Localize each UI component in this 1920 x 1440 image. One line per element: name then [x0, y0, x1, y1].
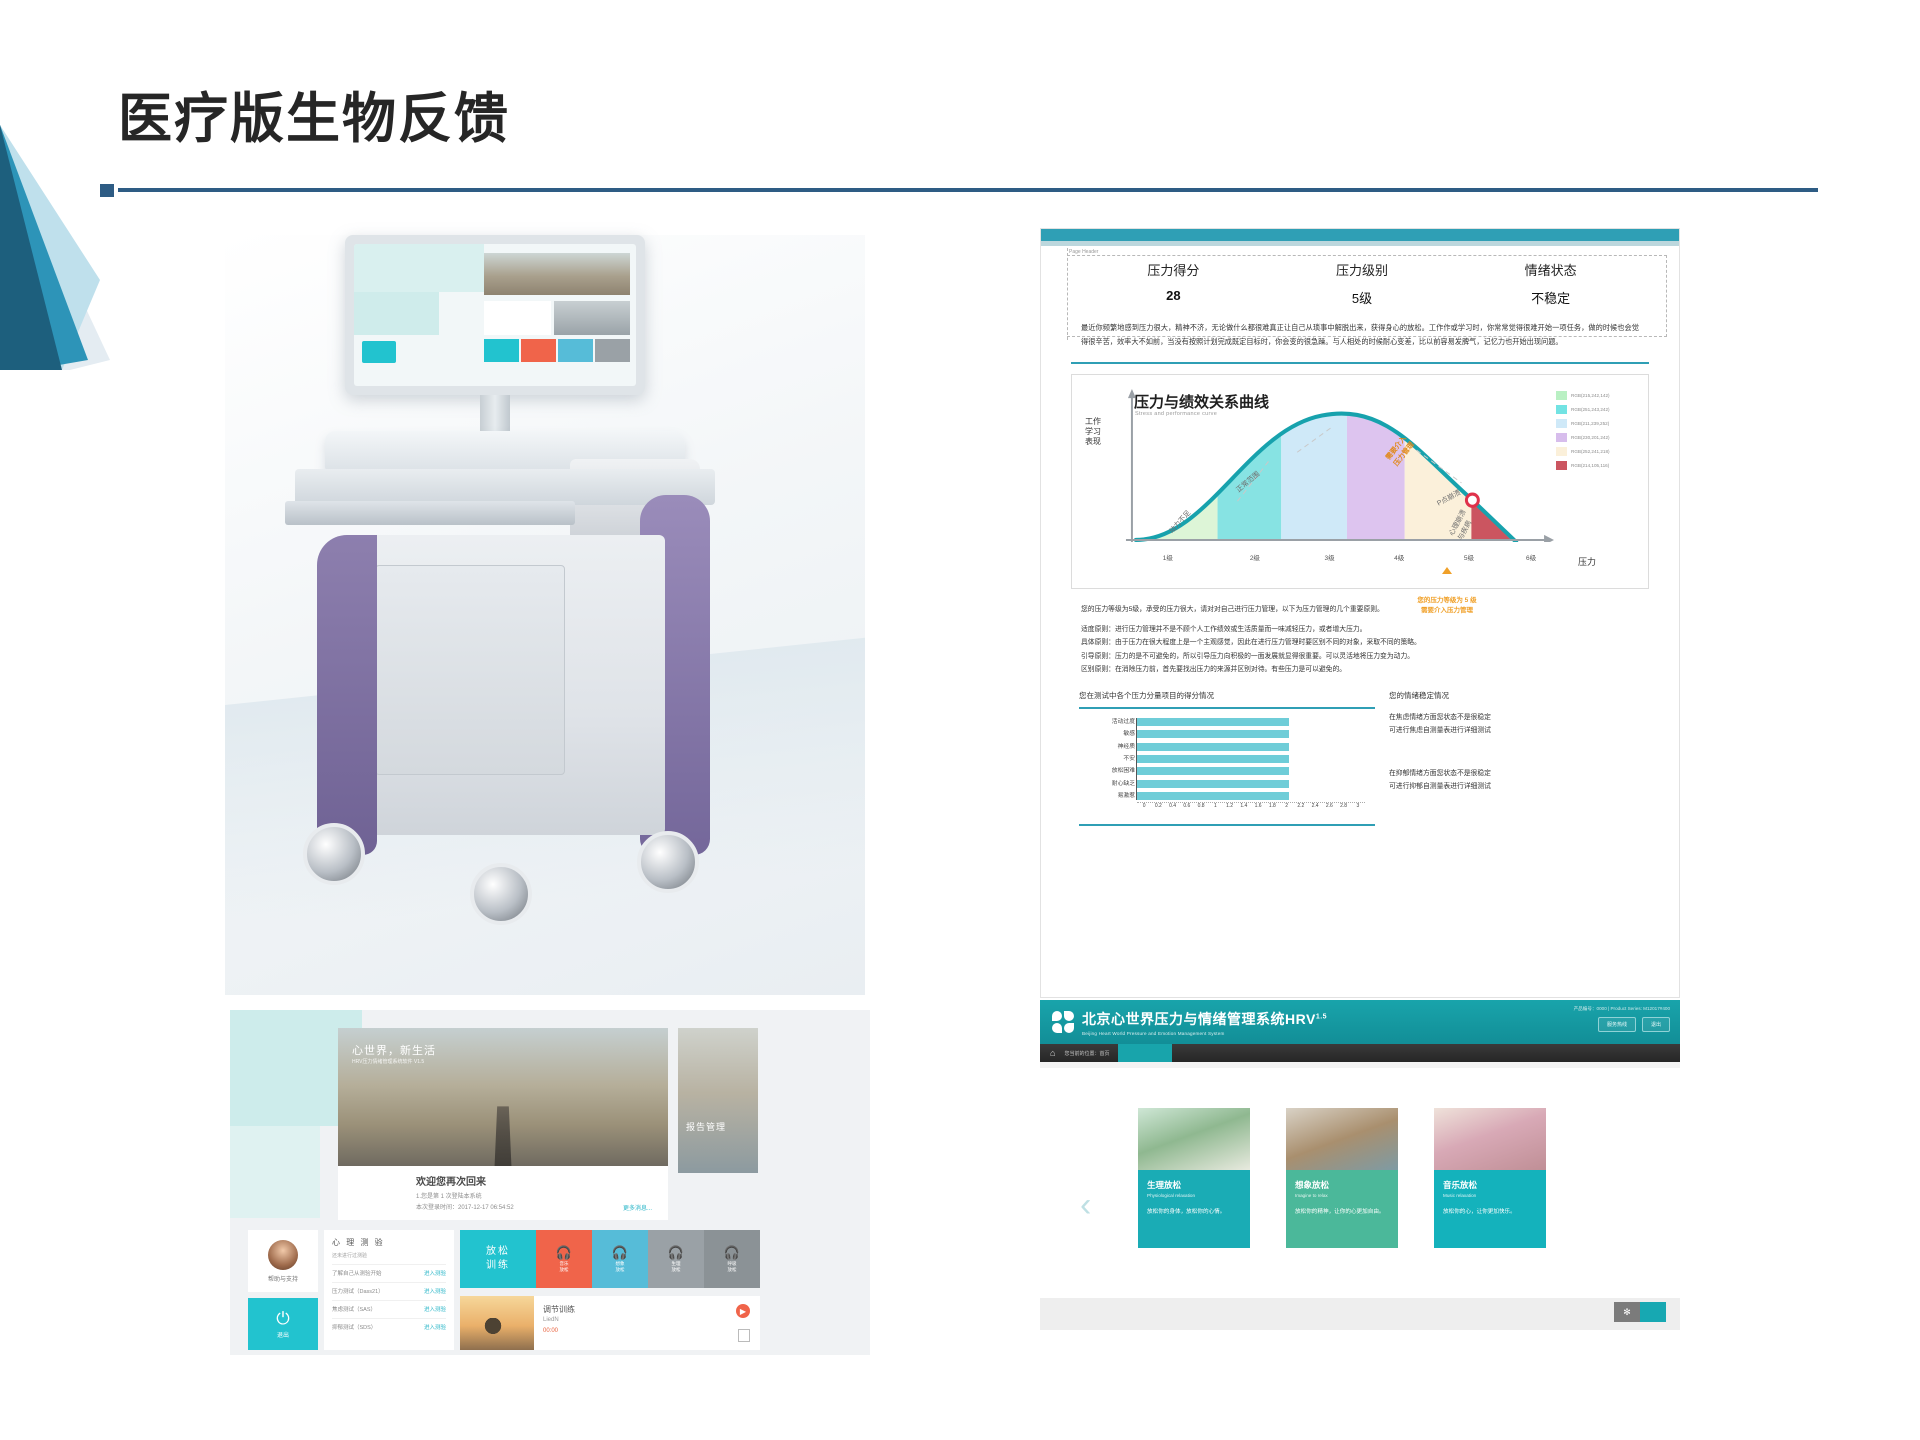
psych-test-title: 心 理 测 验 — [332, 1237, 446, 1248]
app-header-right: 产品编号：0000 | Product Series: M12017#400 服… — [1574, 1006, 1670, 1032]
cart-monitor — [345, 235, 645, 395]
psych-test-row: 压力测试（Dass21） 进入测验 — [332, 1282, 446, 1295]
media-subtitle: LiedN — [543, 1317, 710, 1323]
x-tick: 2级 — [1218, 552, 1293, 562]
report-bottom-row: 您在测试中各个压力分量项目的得分情况 活动过度 敏感 神经质 不安 放松困难 耐… — [1041, 676, 1679, 826]
settings-icon[interactable]: ✻ — [1614, 1302, 1640, 1322]
relax-training-tile[interactable]: 放松训练 — [460, 1230, 536, 1288]
hero-subtitle: HRV压力情绪管理系统软件 V1.5 — [352, 1058, 436, 1065]
welcome-line-1: 1.您是第 1 次登陆本系统 — [416, 1191, 668, 1200]
cart-caster — [637, 831, 699, 893]
x-tick: 2.6 — [1322, 803, 1336, 818]
legend-item: RGB(251,243,242) — [1556, 405, 1642, 414]
card-description: 放松你的精神，让你的心更加自由。 — [1295, 1208, 1389, 1218]
mood-anxiety-block: 在焦虑情绪方面您状态不是很稳定 可进行焦虑自测量表进行详细测试 — [1389, 712, 1645, 738]
card-title-en: Music relaxation — [1443, 1193, 1537, 1198]
bar-row — [1137, 780, 1365, 788]
x-tick: 0.2 — [1151, 803, 1165, 818]
legend-swatch — [1556, 391, 1567, 400]
bar-row — [1137, 743, 1365, 751]
legend-label: RGB(214,105,116) — [1571, 463, 1609, 468]
x-tick: 6级 — [1506, 552, 1556, 562]
app-content-strip — [1040, 1062, 1680, 1068]
app-title-block: 北京心世界压力与情绪管理系统HRV1.5 Beijing Heart World… — [1082, 1009, 1327, 1036]
media-title: 调节训练 — [543, 1304, 710, 1315]
legend-item: RGB(211,239,252) — [1556, 419, 1642, 428]
help-support-label: 帮助与支持 — [268, 1274, 298, 1283]
x-tick: 4级 — [1367, 552, 1432, 562]
title-rule-marker — [100, 184, 114, 197]
welcome-title: 欢迎您再次回来 — [416, 1173, 668, 1188]
relaxation-cards-section: ‹ 生理放松 Physiological relaxation 放松你的身体，放… — [1040, 1080, 1680, 1330]
relax-training-tiles: 放松训练 🎧音乐放松 🎧想象放松 🎧生理放松 🎧呼吸放松 — [460, 1230, 760, 1288]
x-tick: 1.2 — [1223, 803, 1237, 818]
x-tick: 0.8 — [1194, 803, 1208, 818]
avatar — [268, 1240, 298, 1270]
x-tick: 1.6 — [1251, 803, 1265, 818]
test-name: 抑郁测试（SDS） — [332, 1323, 376, 1331]
psych-test-row: 了解自己从测验开始 进入测验 — [332, 1264, 446, 1277]
media-thumbnail — [460, 1296, 534, 1350]
media-time: 00:00 — [543, 1328, 710, 1334]
app-logo-icon — [1052, 1011, 1074, 1033]
page-header-frame — [1067, 255, 1667, 337]
legend-label: RGB(215,242,142) — [1571, 393, 1610, 398]
relax-item-imagine[interactable]: 🎧想象放松 — [592, 1230, 648, 1288]
bar-category: 易激惹 — [1083, 792, 1135, 800]
cart-caster — [303, 823, 365, 885]
bar-category: 神经质 — [1083, 743, 1135, 751]
card-photo — [1434, 1108, 1546, 1170]
bar-category: 不安 — [1083, 755, 1135, 763]
legend-item: RGB(252,241,218) — [1556, 447, 1642, 456]
bar-chart-title: 您在测试中各个压力分量项目的得分情况 — [1079, 690, 1375, 701]
x-tick: 5级 — [1432, 552, 1507, 562]
active-tab-indicator[interactable] — [1118, 1044, 1172, 1062]
mood-line: 可进行焦虑自测量表进行详细测试 — [1389, 725, 1645, 738]
bar-chart-x-axis: 0 0.2 0.4 0.6 0.8 1 1.2 1.4 1.6 1.8 2 2.… — [1137, 802, 1365, 818]
x-tick: 2.4 — [1308, 803, 1322, 818]
report-topbar — [1041, 229, 1679, 241]
legend-label: RGB(251,243,242) — [1571, 407, 1610, 412]
app-navbar: ⌂ 您当前的位置：首页 — [1040, 1044, 1680, 1062]
power-icon: ⏻ — [276, 1310, 289, 1327]
medical-cart-photo — [225, 235, 865, 995]
card-description: 放松你的身体，放松你的心情。 — [1147, 1208, 1241, 1218]
card-title-cn: 音乐放松 — [1443, 1179, 1537, 1191]
relax-item-music[interactable]: 🎧音乐放松 — [536, 1230, 592, 1288]
x-tick: 1.8 — [1265, 803, 1279, 818]
application-window: 北京心世界压力与情绪管理系统HRV1.5 Beijing Heart World… — [1040, 1000, 1680, 1068]
cart-side-panel-left — [317, 535, 377, 855]
hero-banner: 心世界，新生活 HRV压力情绪管理系统软件 V1.5 — [338, 1028, 668, 1166]
hero-road — [495, 1106, 513, 1173]
cart-caster — [470, 863, 532, 925]
document-icon[interactable] — [738, 1329, 750, 1342]
report-preview: Page Header 压力得分 28 压力级别 5级 情绪状态 不稳定 最近你… — [1040, 228, 1680, 998]
card-title-cn: 生理放松 — [1147, 1179, 1241, 1191]
bar-row — [1137, 767, 1365, 775]
chart-x-axis-ticks: 1级 2级 3级 4级 5级 6级 — [1118, 550, 1556, 564]
legend-label: RGB(230,201,242) — [1571, 435, 1610, 440]
app-header: 北京心世界压力与情绪管理系统HRV1.5 Beijing Heart World… — [1040, 1000, 1680, 1044]
report-principles: 您的压力等级为5级，承受的压力很大，请对对自己进行压力管理，以下为压力管理的几个… — [1041, 589, 1679, 676]
x-tick: 1 — [1208, 803, 1222, 818]
bar-series — [1137, 718, 1365, 800]
play-icon[interactable]: ▶ — [736, 1304, 750, 1318]
mood-line: 在焦虑情绪方面您状态不是很稳定 — [1389, 712, 1645, 725]
bar-category-labels: 活动过度 敏感 神经质 不安 放松困难 耐心缺乏 易激惹 — [1083, 718, 1135, 800]
bar-category: 活动过度 — [1083, 718, 1135, 726]
relaxation-card-list: 生理放松 Physiological relaxation 放松你的身体，放松你… — [1138, 1108, 1546, 1248]
test-name: 压力测试（Dass21） — [332, 1287, 384, 1295]
page-title: 医疗版生物反馈 — [118, 88, 510, 150]
legend-swatch — [1556, 419, 1567, 428]
mood-stability-panel: 您的情绪稳定情况 在焦虑情绪方面您状态不是很稳定 可进行焦虑自测量表进行详细测试… — [1389, 690, 1645, 826]
report-management-label: 报告管理 — [686, 1120, 726, 1133]
decorative-ribbon — [0, 30, 120, 370]
relax-item-physio[interactable]: 🎧生理放松 — [648, 1230, 704, 1288]
subscale-bar-panel: 您在测试中各个压力分量项目的得分情况 活动过度 敏感 神经质 不安 放松困难 耐… — [1079, 690, 1375, 826]
principle-item: 具体原则：由于压力在很大程度上是一个主观感觉，因此在进行压力管理时要区别不同的对… — [1081, 636, 1639, 649]
legend-swatch — [1556, 433, 1567, 442]
psych-test-sub-1: 还未进行过测验 — [332, 1252, 446, 1259]
chevron-left-icon[interactable]: ‹ — [1080, 1188, 1091, 1222]
card-description: 放松你的心，让你更加快乐。 — [1443, 1208, 1537, 1218]
mood-line: 在抑郁情绪方面您状态不是很稳定 — [1389, 768, 1645, 781]
title-rule — [118, 188, 1818, 192]
cards-footer: ✻ — [1040, 1298, 1680, 1330]
x-tick: 0.6 — [1180, 803, 1194, 818]
chart-x-axis-label: 压力 — [1578, 555, 1596, 568]
chart-annotation-marker — [1442, 567, 1452, 574]
card-photo — [1138, 1108, 1250, 1170]
help-support-card[interactable]: 帮助与支持 — [248, 1230, 318, 1292]
hero-title: 心世界，新生活 — [352, 1042, 436, 1058]
legend-label: RGB(211,239,252) — [1571, 421, 1609, 426]
cart-cabinet-door — [375, 565, 565, 775]
bar-row — [1137, 792, 1365, 800]
bar-category: 耐心缺乏 — [1083, 780, 1135, 788]
x-tick: 3 — [1351, 803, 1365, 818]
psych-test-row: 焦虑测试（SAS） 进入测验 — [332, 1300, 446, 1313]
page-title-wrap: 医疗版生物反馈 — [118, 88, 510, 150]
x-tick: 0.4 — [1166, 803, 1180, 818]
principles-lead: 您的压力等级为5级，承受的压力很大，请对对自己进行压力管理，以下为压力管理的几个… — [1081, 603, 1639, 616]
headphone-icon: 🎧 — [668, 1246, 684, 1259]
footer-accent — [1640, 1302, 1666, 1322]
enter-test-link[interactable]: 进入测验 — [424, 1305, 446, 1313]
welcome-card: 欢迎您再次回来 1.您是第 1 次登陆本系统 本次登录时间：2017-12-17… — [338, 1166, 668, 1220]
mood-line: 可进行抑郁自测量表进行详细测试 — [1389, 781, 1645, 794]
annotation-line-1: 您的压力等级为 5 级 — [1417, 597, 1476, 604]
x-tick: 1级 — [1118, 552, 1218, 562]
software-home-screenshot: 心世界，新生活 HRV压力情绪管理系统软件 V1.5 欢迎您再次回来 1.您是第… — [230, 1010, 870, 1355]
principle-item: 区别原则：在消除压力前，首先要找出压力的来源并区别对待。有些压力是可以避免的。 — [1081, 663, 1639, 676]
x-tick: 2.2 — [1294, 803, 1308, 818]
card-title-en: Imagine to relax — [1295, 1193, 1389, 1198]
app-version: 1.5 — [1316, 1013, 1327, 1020]
exit-button[interactable]: 退出 — [1642, 1017, 1670, 1032]
media-player-card: 调节训练 LiedN 00:00 ▶ — [460, 1296, 760, 1350]
subscale-bar-chart: 活动过度 敏感 神经质 不安 放松困难 耐心缺乏 易激惹 — [1083, 718, 1371, 818]
psych-test-panel: 心 理 测 验 还未进行过测验 了解自己从测验开始 进入测验 压力测试（Dass… — [324, 1230, 454, 1350]
psych-test-row: 抑郁测试（SDS） 进入测验 — [332, 1318, 446, 1331]
chart-y-axis-label: 工作学习表现 — [1082, 417, 1104, 447]
test-name: 焦虑测试（SAS） — [332, 1305, 376, 1313]
x-tick: 2.8 — [1337, 803, 1351, 818]
breadcrumb: 您当前的位置：首页 — [1064, 1050, 1109, 1057]
chart-legend: RGB(215,242,142) RGB(251,243,242) RGB(21… — [1556, 391, 1642, 475]
app-title-cn: 北京心世界压力与情绪管理系统HRV1.5 — [1082, 1009, 1327, 1029]
logout-label: 退出 — [277, 1330, 289, 1339]
headphone-icon: 🎧 — [612, 1246, 628, 1259]
x-tick: 3级 — [1292, 552, 1367, 562]
legend-swatch — [1556, 447, 1567, 456]
psych-test-sub-2: 了解自己从测验开始 — [332, 1269, 382, 1277]
enter-test-link[interactable]: 进入测验 — [424, 1287, 446, 1295]
relaxation-card-imagination[interactable]: 想象放松 Imagine to relax 放松你的精神，让你的心更加自由。 — [1286, 1108, 1398, 1248]
bar-row — [1137, 730, 1365, 738]
report-management-card[interactable]: 报告管理 — [678, 1028, 758, 1173]
legend-item: RGB(214,105,116) — [1556, 461, 1642, 470]
chart-annotation: 您的压力等级为 5 级 需要介入压力管理 — [1372, 596, 1522, 616]
legend-item: RGB(230,201,242) — [1556, 433, 1642, 442]
card-photo — [1286, 1108, 1398, 1170]
principle-item: 适度原则：进行压力管理并不是不顾个人工作绩效或生活质量而一味减轻压力，或者增大压… — [1081, 623, 1639, 636]
more-news-link[interactable]: 更多消息... — [623, 1203, 652, 1212]
account-line: 产品编号：0000 | Product Series: M12017#400 — [1574, 1006, 1670, 1012]
report-divider — [1071, 362, 1649, 364]
page-margin-guide — [1067, 248, 1068, 340]
enter-test-link[interactable]: 进入测验 — [424, 1269, 446, 1277]
legend-label: RGB(252,241,218) — [1571, 449, 1610, 454]
principle-item: 引导原则：压力的是不可避免的，所以引导压力向积极的一面发展就显得很重要。可以灵活… — [1081, 650, 1639, 663]
card-title-en: Physiological relaxation — [1147, 1193, 1241, 1198]
cart-keyboard — [285, 501, 575, 525]
app-title-en: Beijing Heart World Pressure and Emotion… — [1082, 1031, 1327, 1036]
mood-panel-heading: 您的情绪稳定情况 — [1389, 690, 1645, 701]
legend-swatch — [1556, 461, 1567, 470]
relaxation-card-physiological[interactable]: 生理放松 Physiological relaxation 放松你的身体，放松你… — [1138, 1108, 1250, 1248]
bar-row — [1137, 718, 1365, 726]
mood-depression-block: 在抑郁情绪方面您状态不是很稳定 可进行抑郁自测量表进行详细测试 — [1389, 768, 1645, 794]
enter-test-link[interactable]: 进入测验 — [424, 1323, 446, 1331]
legend-swatch — [1556, 405, 1567, 414]
legend-item: RGB(215,242,142) — [1556, 391, 1642, 400]
stress-performance-chart: 工作学习表现 压力与绩效关系曲线 Stress and performance … — [1071, 374, 1649, 589]
logout-button[interactable]: ⏻ 退出 — [248, 1298, 318, 1350]
app-title-text: 北京心世界压力与情绪管理系统HRV — [1082, 1011, 1316, 1027]
decor-block — [230, 1126, 320, 1218]
headphone-icon: 🎧 — [556, 1246, 572, 1259]
chart-plot-area: 动力不足 正常范围 需要介入压力管理 P点崩溃 心理崩溃与疾病 — [1118, 389, 1556, 542]
bar-row — [1137, 755, 1365, 763]
home-icon[interactable]: ⌂ — [1050, 1048, 1055, 1058]
card-title-cn: 想象放松 — [1295, 1179, 1389, 1191]
cart-monitor-screen — [354, 244, 636, 386]
x-tick: 0 — [1137, 803, 1151, 818]
bar-category: 放松困难 — [1083, 767, 1135, 775]
bar-category: 敏感 — [1083, 730, 1135, 738]
annotation-line-2: 需要介入压力管理 — [1421, 607, 1473, 614]
x-tick: 2 — [1280, 803, 1294, 818]
relax-item-breath[interactable]: 🎧呼吸放松 — [704, 1230, 760, 1288]
service-hotline-button[interactable]: 服务热线 — [1598, 1017, 1636, 1032]
headphone-icon: 🎧 — [724, 1246, 740, 1259]
x-tick: 1.4 — [1237, 803, 1251, 818]
monitor-neck — [480, 395, 510, 435]
footer-control[interactable]: ✻ — [1614, 1302, 1666, 1322]
relaxation-card-music[interactable]: 音乐放松 Music relaxation 放松你的心，让你更加快乐。 — [1434, 1108, 1546, 1248]
